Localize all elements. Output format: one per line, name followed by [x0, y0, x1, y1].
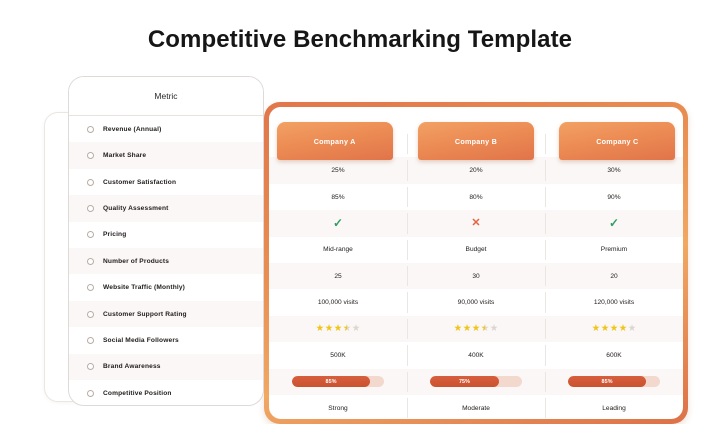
star-icon: ★	[472, 324, 481, 334]
company-tab-b[interactable]: Company B	[418, 122, 534, 160]
cell-value: 20	[610, 273, 617, 280]
progress-label: 85%	[602, 379, 613, 385]
company-tab-label: Company B	[455, 137, 497, 146]
star-icon: ★	[325, 324, 334, 334]
bullet-icon	[87, 390, 94, 397]
cell-value: Premium	[601, 246, 627, 253]
data-cell: 25	[269, 263, 407, 289]
bullet-icon	[87, 337, 94, 344]
metric-row: Social Media Followers	[69, 327, 263, 353]
progress-bar: 85%	[568, 376, 660, 387]
data-cell: 25%	[269, 157, 407, 183]
data-cell: 85%	[269, 184, 407, 210]
data-cell: 85%	[545, 369, 683, 395]
star-icon: ★	[628, 324, 637, 334]
star-rating: ★★★★★	[592, 324, 637, 334]
metric-label: Revenue (Annual)	[103, 126, 161, 133]
star-icon: ★	[619, 324, 628, 334]
data-cell: 120,000 visits	[545, 289, 683, 315]
table-row: 253020	[269, 263, 683, 289]
metric-row: Customer Satisfaction	[69, 169, 263, 195]
star-rating: ★★★★★	[454, 324, 499, 334]
cell-value: 25%	[331, 167, 344, 174]
metric-label: Social Media Followers	[103, 337, 179, 344]
data-cell: 100,000 visits	[269, 289, 407, 315]
bullet-icon	[87, 258, 94, 265]
progress-bar: 75%	[430, 376, 522, 387]
metric-row: Revenue (Annual)	[69, 116, 263, 142]
star-icon: ★	[481, 324, 490, 334]
star-icon: ★	[316, 324, 325, 334]
data-cell: Budget	[407, 237, 545, 263]
page-title: Competitive Benchmarking Template	[0, 16, 720, 53]
data-cell: Moderate	[407, 395, 545, 419]
metric-label: Number of Products	[103, 258, 169, 265]
data-cell: ★★★★★	[269, 316, 407, 342]
data-cell: Premium	[545, 237, 683, 263]
cell-value: 120,000 visits	[594, 299, 634, 306]
progress-fill: 85%	[568, 376, 646, 387]
data-cell: 30%	[545, 157, 683, 183]
cell-value: 90%	[607, 194, 620, 201]
data-cell: ✓	[269, 210, 407, 236]
table-row: 85%75%85%	[269, 369, 683, 395]
table-row: 100,000 visits90,000 visits120,000 visit…	[269, 289, 683, 315]
company-tab-label: Company A	[314, 137, 356, 146]
star-icon: ★	[601, 324, 610, 334]
cell-value: 30	[472, 273, 479, 280]
star-icon: ★	[592, 324, 601, 334]
metric-label: Quality Assessment	[103, 205, 169, 212]
data-cell: 500K	[269, 342, 407, 368]
star-icon: ★	[334, 324, 343, 334]
cell-value: 600K	[606, 352, 621, 359]
cell-value: 400K	[468, 352, 483, 359]
company-tab-c[interactable]: Company C	[559, 122, 675, 160]
data-cell: 80%	[407, 184, 545, 210]
benchmark-table: Metric Revenue (Annual)Market ShareCusto…	[0, 64, 720, 420]
data-cell: 400K	[407, 342, 545, 368]
star-icon: ★	[343, 324, 352, 334]
metric-label: Brand Awareness	[103, 363, 161, 370]
star-icon: ★	[490, 324, 499, 334]
progress-bar: 85%	[292, 376, 384, 387]
cell-value: Moderate	[462, 405, 490, 412]
cell-value: Budget	[466, 246, 487, 253]
metric-label: Website Traffic (Monthly)	[103, 284, 185, 291]
bullet-icon	[87, 363, 94, 370]
cell-value: 20%	[469, 167, 482, 174]
table-row: ★★★★★★★★★★★★★★★	[269, 316, 683, 342]
data-cell: Leading	[545, 395, 683, 419]
company-tab-a[interactable]: Company A	[277, 122, 393, 160]
cell-value: 85%	[331, 194, 344, 201]
data-cell: Mid-range	[269, 237, 407, 263]
cell-value: Mid-range	[323, 246, 353, 253]
check-icon: ✓	[609, 217, 619, 229]
data-cell: 600K	[545, 342, 683, 368]
data-cell: 90%	[545, 184, 683, 210]
metric-row: Market Share	[69, 142, 263, 168]
progress-fill: 75%	[430, 376, 499, 387]
metric-row: Pricing	[69, 222, 263, 248]
data-cell: 75%	[407, 369, 545, 395]
cell-value: 500K	[330, 352, 345, 359]
cell-value: 80%	[469, 194, 482, 201]
metric-row: Customer Support Rating	[69, 301, 263, 327]
progress-label: 85%	[326, 379, 337, 385]
table-row: StrongModerateLeading	[269, 395, 683, 419]
table-row: 85%80%90%	[269, 184, 683, 210]
bullet-icon	[87, 179, 94, 186]
cell-value: Strong	[328, 405, 347, 412]
cell-value: 30%	[607, 167, 620, 174]
cell-value: 25	[334, 273, 341, 280]
bullet-icon	[87, 284, 94, 291]
metric-label: Market Share	[103, 152, 146, 159]
check-icon: ✓	[333, 217, 343, 229]
bullet-icon	[87, 205, 94, 212]
data-cell: ★★★★★	[407, 316, 545, 342]
metric-label-list: Revenue (Annual)Market ShareCustomer Sat…	[69, 116, 263, 406]
data-cell: 85%	[269, 369, 407, 395]
table-row: Mid-rangeBudgetPremium	[269, 237, 683, 263]
table-row: 500K400K600K	[269, 342, 683, 368]
table-row: 25%20%30%	[269, 157, 683, 183]
metric-row: Brand Awareness	[69, 354, 263, 380]
star-rating: ★★★★★	[316, 324, 361, 334]
cell-value: 100,000 visits	[318, 299, 358, 306]
progress-label: 75%	[459, 379, 470, 385]
data-cell: ✓	[545, 210, 683, 236]
data-cell: 90,000 visits	[407, 289, 545, 315]
bullet-icon	[87, 311, 94, 318]
company-data-rows: $50 million$45 million$55 million25%20%3…	[269, 131, 683, 419]
data-cell: 20%	[407, 157, 545, 183]
progress-fill: 85%	[292, 376, 370, 387]
metric-label: Customer Support Rating	[103, 311, 187, 318]
star-icon: ★	[454, 324, 463, 334]
star-icon: ★	[610, 324, 619, 334]
bullet-icon	[87, 126, 94, 133]
data-cell: 30	[407, 263, 545, 289]
metric-row: Quality Assessment	[69, 195, 263, 221]
cell-value: Leading	[602, 405, 625, 412]
cell-value: 90,000 visits	[458, 299, 495, 306]
metric-label: Competitive Position	[103, 390, 172, 397]
metric-row: Website Traffic (Monthly)	[69, 274, 263, 300]
company-tab-label: Company C	[596, 137, 638, 146]
metric-label: Pricing	[103, 231, 126, 238]
star-icon: ★	[352, 324, 361, 334]
cross-icon: ✕	[471, 218, 480, 229]
metric-row: Number of Products	[69, 248, 263, 274]
data-cell: Strong	[269, 395, 407, 419]
metric-column-card: Metric Revenue (Annual)Market ShareCusto…	[68, 76, 264, 406]
metric-column-header: Metric	[69, 77, 263, 116]
data-cell: 20	[545, 263, 683, 289]
metric-row: Competitive Position	[69, 380, 263, 406]
bullet-icon	[87, 152, 94, 159]
data-cell: ✕	[407, 210, 545, 236]
data-cell: ★★★★★	[545, 316, 683, 342]
star-icon: ★	[463, 324, 472, 334]
bullet-icon	[87, 231, 94, 238]
table-row: ✓✕✓	[269, 210, 683, 236]
metric-label: Customer Satisfaction	[103, 179, 176, 186]
